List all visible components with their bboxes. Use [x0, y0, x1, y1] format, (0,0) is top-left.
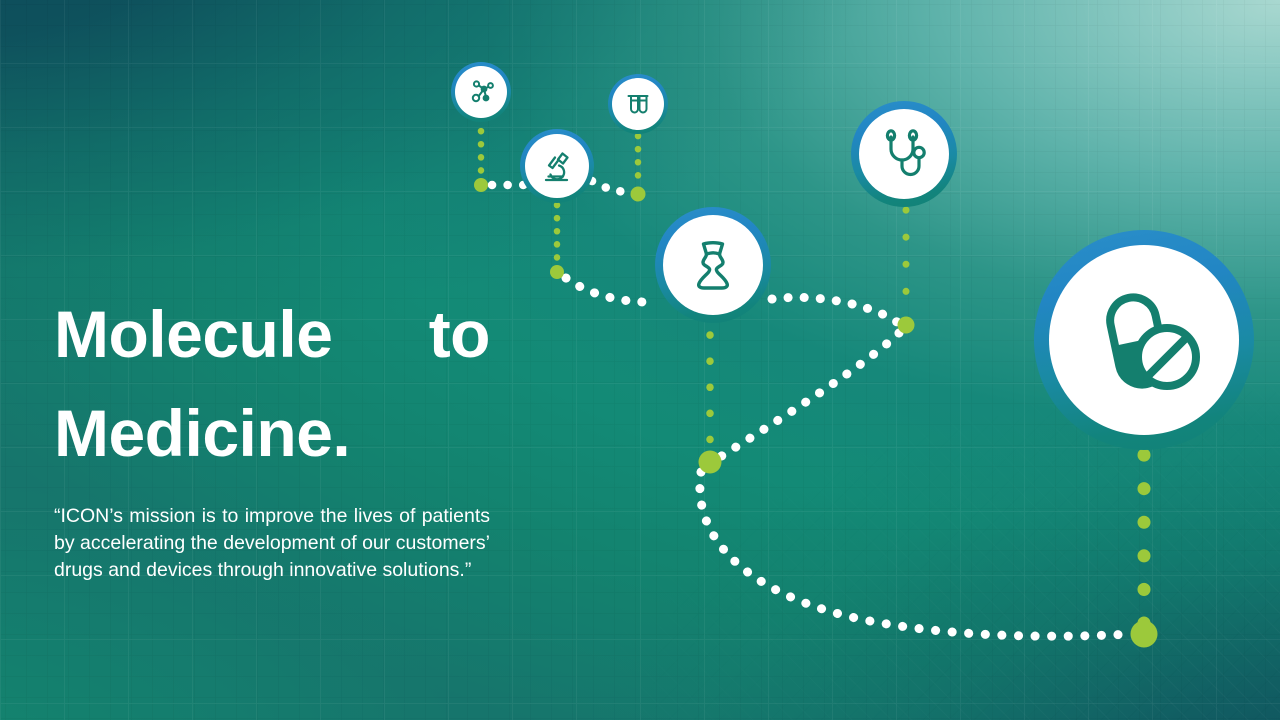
anchor-dot-microscope — [550, 265, 564, 279]
test-tubes-icon — [622, 88, 654, 120]
flask-icon — [682, 234, 744, 296]
journey-node-stethoscope[interactable] — [851, 101, 957, 207]
anchor-dot-stethoscope — [898, 317, 915, 334]
journey-node-molecule-disc — [455, 66, 507, 118]
journey-node-flask[interactable] — [655, 207, 771, 323]
text-block: Molecule to Medicine. “ICON’s mission is… — [54, 285, 490, 584]
journey-node-microscope[interactable] — [520, 129, 594, 203]
route-flask-to-stethoscope-anchor — [772, 297, 897, 322]
microscope-icon — [537, 146, 577, 186]
journey-node-flask-disc — [663, 215, 763, 315]
journey-node-molecule[interactable] — [451, 62, 511, 122]
journey-node-stethoscope-disc — [859, 109, 949, 199]
route-microscope-anchor-to-flask — [566, 278, 655, 302]
stethoscope-icon — [876, 126, 932, 182]
journey-node-pills[interactable] — [1034, 230, 1254, 450]
slide-canvas: Molecule to Medicine. “ICON’s mission is… — [0, 0, 1280, 720]
anchor-dot-flask — [699, 451, 722, 474]
mission-quote: “ICON’s mission is to improve the lives … — [54, 483, 490, 584]
pills-icon — [1084, 280, 1204, 400]
route-stethoscope-anchor-to-flask-anchor — [720, 333, 899, 457]
route-flask-anchor-to-pills-anchor — [700, 472, 1131, 636]
route-microscope-to-test-tubes — [592, 181, 630, 192]
journey-node-test-tubes[interactable] — [608, 74, 668, 134]
anchor-dot-test-tubes — [631, 187, 646, 202]
journey-node-test-tubes-disc — [612, 78, 664, 130]
anchor-dot-molecule — [474, 178, 488, 192]
molecule-icon — [465, 76, 497, 108]
journey-node-pills-disc — [1049, 245, 1239, 435]
journey-node-microscope-disc — [525, 134, 589, 198]
page-title: Molecule to Medicine. — [54, 285, 490, 483]
anchor-dot-pills — [1131, 621, 1158, 648]
